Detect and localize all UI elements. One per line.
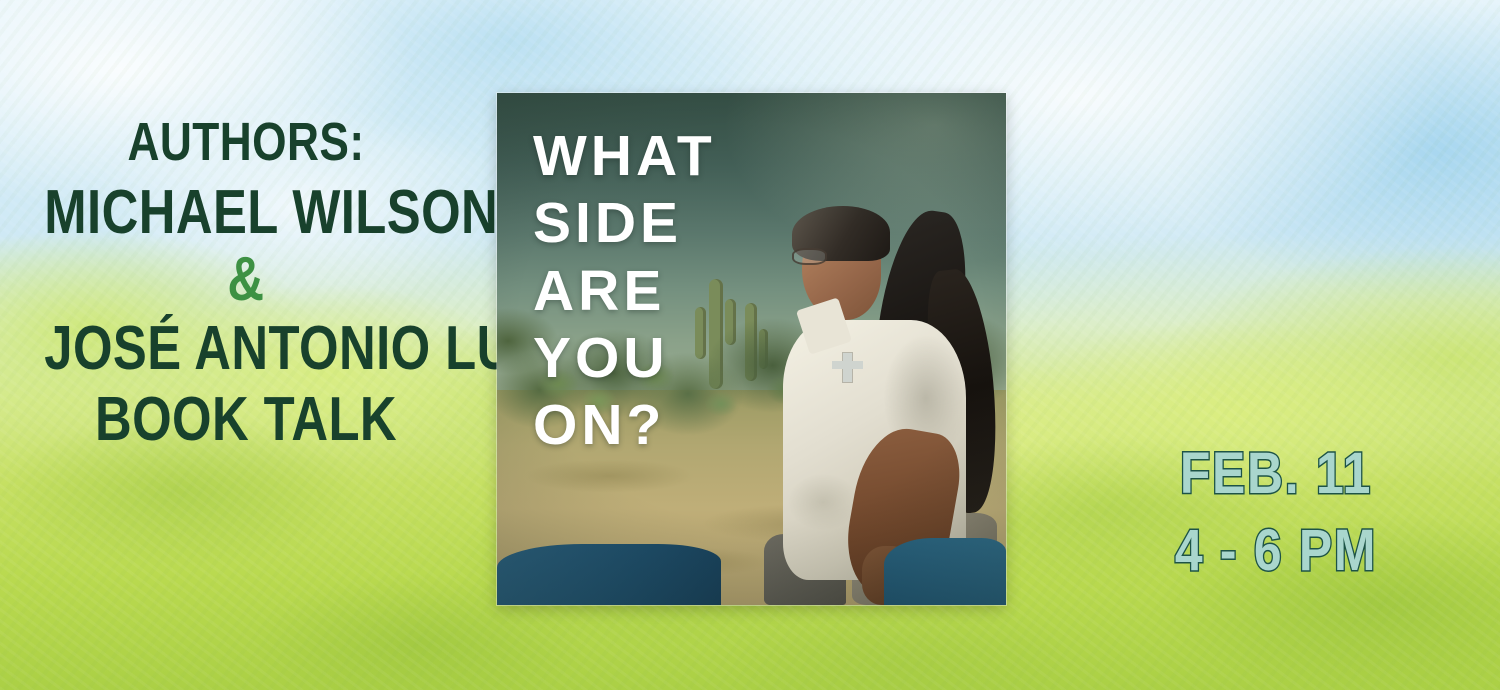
book-cover-image: WHAT SIDE ARE YOU ON? <box>497 93 1006 605</box>
headline-event-type: BOOK TALK <box>44 391 447 448</box>
cover-title: WHAT SIDE ARE YOU ON? <box>533 123 716 459</box>
event-date: FEB. 11 <box>1147 444 1405 503</box>
headline-author-one: MICHAEL WILSON <box>44 184 447 241</box>
headline-block: AUTHORS: MICHAEL WILSON & JOSÉ ANTONIO L… <box>0 118 492 448</box>
headline-ampersand: & <box>44 251 447 308</box>
cover-title-line: ON? <box>533 392 716 459</box>
headline-author-two: JOSÉ ANTONIO LUCERO <box>44 320 447 377</box>
cover-title-line: ARE <box>533 258 716 325</box>
cover-title-line: YOU <box>533 325 716 392</box>
cover-title-line: WHAT <box>533 123 716 190</box>
cover-title-line: SIDE <box>533 190 716 257</box>
event-banner: AUTHORS: MICHAEL WILSON & JOSÉ ANTONIO L… <box>0 0 1500 690</box>
event-time: 4 - 6 PM <box>1147 521 1405 580</box>
headline-authors-label: AUTHORS: <box>44 118 447 168</box>
event-datetime-block: FEB. 11 4 - 6 PM <box>1126 444 1426 580</box>
